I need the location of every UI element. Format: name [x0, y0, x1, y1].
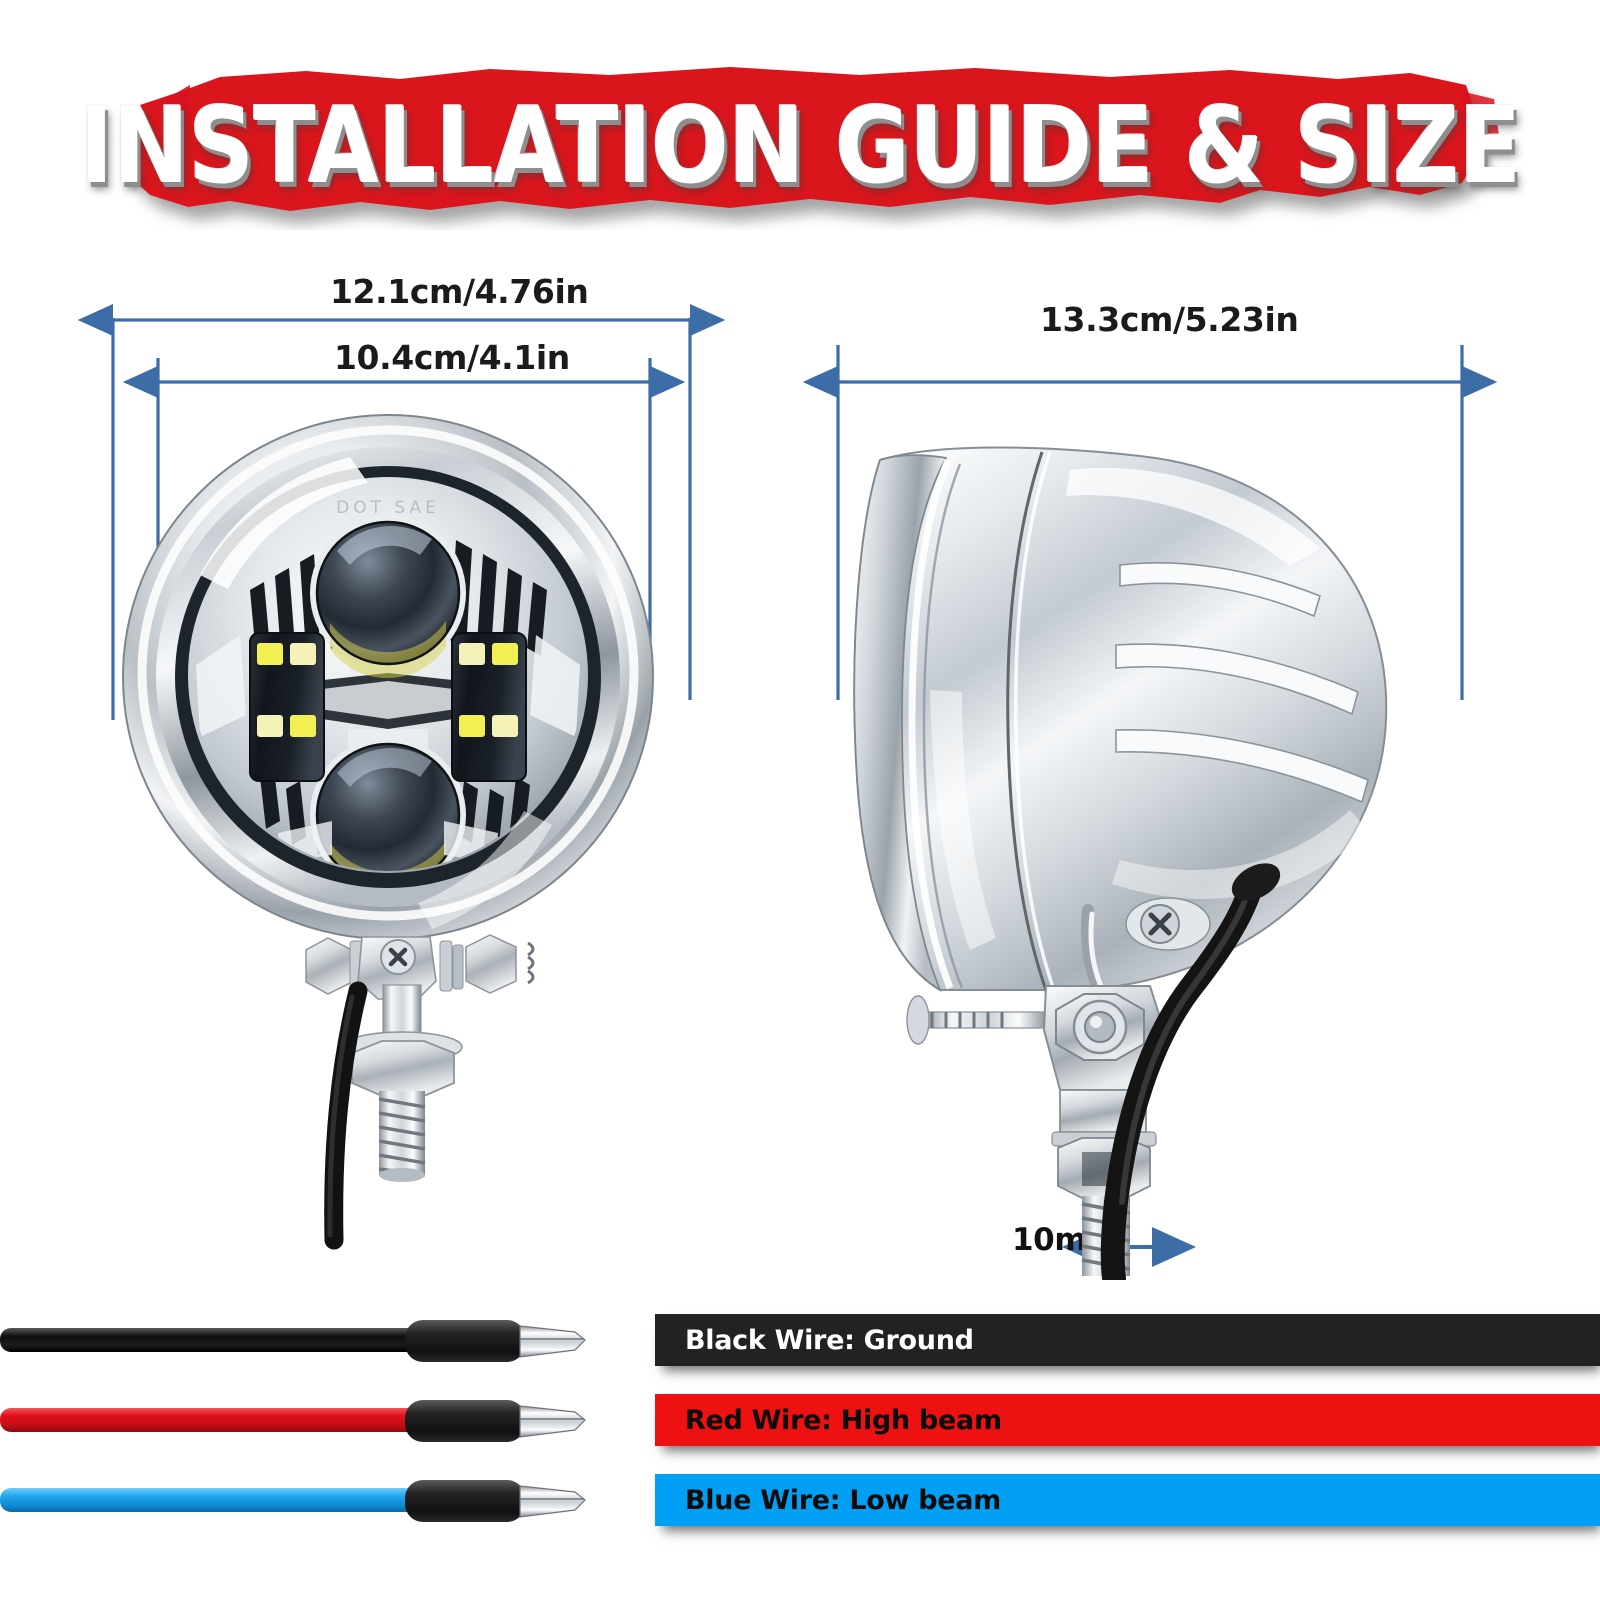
stud-hex-nut: [352, 1041, 454, 1096]
legend-black-wire: Black Wire: Ground: [655, 1314, 1600, 1366]
legend-blue-wire-label: Blue Wire: Low beam: [685, 1485, 1001, 1516]
wire-red: [0, 1388, 600, 1458]
black-wire-lead: [0, 1328, 420, 1352]
red-wire-lead: [0, 1408, 420, 1432]
headlight-side-view: [820, 390, 1500, 1280]
wire-black: [0, 1308, 600, 1378]
thread-detail: [528, 943, 533, 983]
black-wire-boot: [405, 1320, 525, 1362]
blue-wire-lead: [0, 1488, 420, 1512]
blue-wire-terminal: [520, 1486, 585, 1517]
right-led-chip-bar: [452, 633, 526, 781]
red-wire-terminal: [520, 1406, 585, 1437]
adjust-bolt-washer: [907, 996, 929, 1044]
legend-blue-wire: Blue Wire: Low beam: [655, 1474, 1600, 1526]
side-adjust-bolt: [907, 996, 1050, 1044]
blue-wire-boot: [405, 1480, 525, 1522]
black-wire-terminal: [520, 1326, 585, 1357]
legend-red-wire: Red Wire: High beam: [655, 1394, 1600, 1446]
front-outer-dimension-label: 12.1cm/4.76in: [330, 272, 588, 311]
left-led-chip-bar: [250, 633, 324, 781]
headlight-front-view: DOT SAE: [100, 385, 700, 1265]
red-wire-boot: [405, 1400, 525, 1442]
front-inner-dimension-label: 10.4cm/4.1in: [334, 338, 570, 377]
side-depth-dimension-label: 13.3cm/5.23in: [1040, 300, 1298, 339]
legend-black-wire-label: Black Wire: Ground: [685, 1325, 974, 1356]
installation-guide-page: INSTALLATION GUIDE & SIZE: [0, 0, 1600, 1600]
title-banner: INSTALLATION GUIDE & SIZE: [70, 55, 1530, 230]
page-title: INSTALLATION GUIDE & SIZE: [26, 36, 1574, 250]
wire-blue: [0, 1468, 600, 1538]
bracket-left-nut: [306, 938, 352, 994]
bracket-right-nut: [466, 935, 516, 993]
legend-red-wire-label: Red Wire: High beam: [685, 1405, 1002, 1436]
